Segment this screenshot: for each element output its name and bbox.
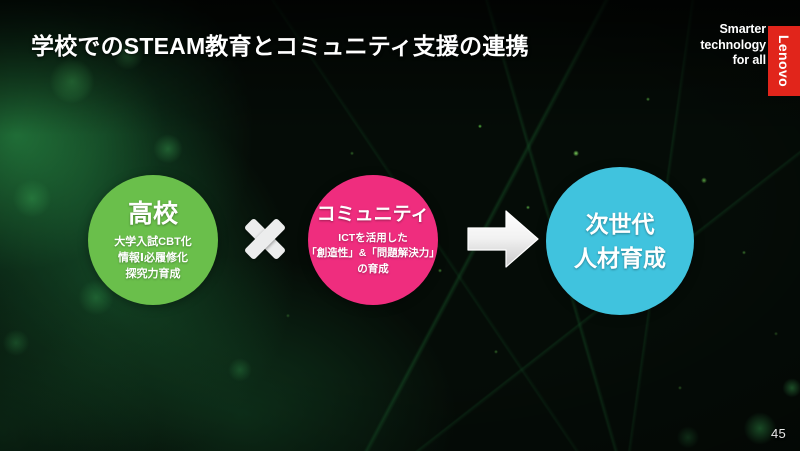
lenovo-logo: Lenovo	[768, 26, 800, 96]
node-next-generation-title-line-1: 次世代	[586, 207, 655, 241]
node-high-school: 高校 大学入試CBT化 情報Ⅰ必履修化 探究力育成	[88, 175, 218, 305]
page-number: 45	[771, 426, 786, 441]
concept-diagram: 高校 大学入試CBT化 情報Ⅰ必履修化 探究力育成 コミュニティ ICTを活用し…	[0, 150, 800, 320]
slide-title: 学校でのSTEAM教育とコミュニティ支援の連携	[31, 29, 529, 63]
brand-tagline-line-2: technology	[700, 38, 766, 54]
brand-tagline: Smarter technology for all	[700, 22, 766, 69]
node-community-subtext: ICTを活用した 「創造性」&「問題解決力」 の育成	[306, 231, 440, 278]
node-community: コミュニティ ICTを活用した 「創造性」&「問題解決力」 の育成	[308, 175, 438, 305]
node-community-sub-line-3: の育成	[306, 262, 440, 278]
multiply-operator-icon	[238, 212, 292, 266]
node-community-title: コミュニティ	[317, 203, 430, 227]
brand-tagline-line-3: for all	[700, 53, 766, 69]
node-next-generation-title-line-2: 人材育成	[574, 241, 666, 275]
brand-tagline-line-1: Smarter	[700, 22, 766, 38]
node-next-generation: 次世代 人材育成	[546, 167, 694, 315]
slide-canvas: 学校でのSTEAM教育とコミュニティ支援の連携 Smarter technolo…	[0, 0, 800, 451]
lenovo-logo-text: Lenovo	[776, 35, 792, 87]
node-high-school-title: 高校	[128, 199, 178, 229]
node-community-sub-line-1: ICTを活用した	[306, 231, 440, 247]
node-high-school-sub-line-1: 大学入試CBT化	[114, 234, 192, 250]
node-high-school-sub-line-2: 情報Ⅰ必履修化	[114, 250, 192, 266]
node-high-school-subtext: 大学入試CBT化 情報Ⅰ必履修化 探究力育成	[114, 234, 192, 282]
node-high-school-sub-line-3: 探究力育成	[114, 266, 192, 282]
right-arrow-icon	[466, 208, 540, 270]
node-community-sub-line-2: 「創造性」&「問題解決力」	[306, 246, 440, 262]
